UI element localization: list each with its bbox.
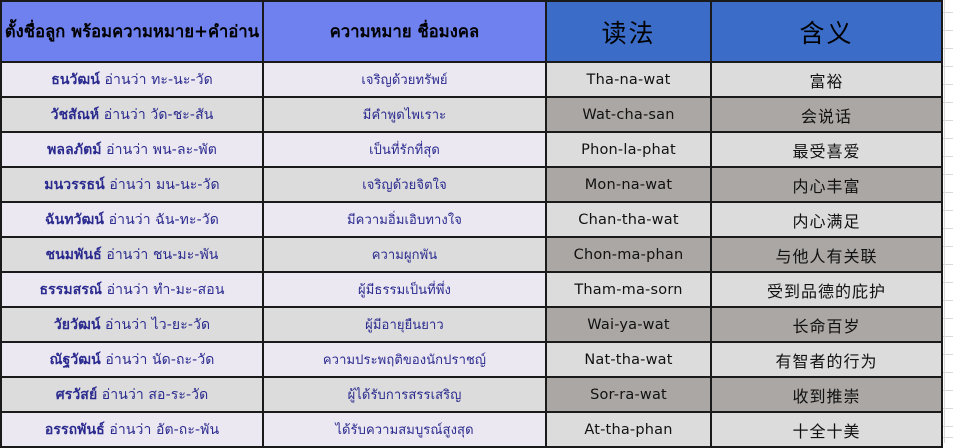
- table-row: มนวรรธน์ อ่านว่า มน-นะ-วัดเจริญด้วยจิตใจ…: [1, 167, 942, 202]
- thai-name-text: ชนมพันธ์: [46, 247, 102, 263]
- cell-thai-meaning[interactable]: ได้รับความสมบูรณ์สูงสุด: [263, 412, 546, 447]
- cell-latin-reading[interactable]: Mon-na-wat: [546, 167, 711, 202]
- cell-thai-name[interactable]: วัชสัณห์ อ่านว่า วัด-ชะ-สัน: [1, 97, 263, 132]
- table-row: ศรวัสย์ อ่านว่า สอ-ระ-วัดผู้ได้รับการสรร…: [1, 377, 942, 412]
- thai-name-meaning-table: ตั้งชื่อลูก พร้อมความหมาย+คำอ่าน ความหมา…: [0, 0, 943, 448]
- thai-reading-text: อ่านว่า วัด-ชะ-สัน: [99, 107, 213, 123]
- thai-name-text: ธนวัฒน์: [51, 72, 100, 88]
- thai-reading-text: อ่านว่า พน-ละ-พัต: [102, 142, 217, 158]
- cell-chinese-meaning[interactable]: 十全十美: [711, 412, 942, 447]
- cell-thai-meaning[interactable]: มีความอิ่มเอิบทางใจ: [263, 202, 546, 237]
- cell-thai-name[interactable]: อรรถพันธ์ อ่านว่า อัต-ถะ-พัน: [1, 412, 263, 447]
- cell-chinese-meaning[interactable]: 内心满足: [711, 202, 942, 237]
- thai-name-text: ณัฐวัฒน์: [50, 352, 101, 368]
- cell-thai-name[interactable]: พลลภัตม์ อ่านว่า พน-ละ-พัต: [1, 132, 263, 167]
- thai-name-text: พลลภัตม์: [47, 142, 102, 158]
- cell-thai-name[interactable]: วัยวัฒน์ อ่านว่า ไว-ยะ-วัด: [1, 307, 263, 342]
- cell-thai-name[interactable]: ธรรมสรณ์ อ่านว่า ทำ-มะ-สอน: [1, 272, 263, 307]
- thai-reading-text: อ่านว่า สอ-ระ-วัด: [97, 387, 208, 403]
- thai-name-text: อรรถพันธ์: [45, 422, 105, 438]
- cell-thai-meaning[interactable]: ความประพฤติของนักปราชญ์: [263, 342, 546, 377]
- thai-reading-text: อ่านว่า ฉัน-ทะ-วัด: [104, 212, 219, 228]
- cell-chinese-meaning[interactable]: 内心丰富: [711, 167, 942, 202]
- cell-chinese-meaning[interactable]: 长命百岁: [711, 307, 942, 342]
- header-row: ตั้งชื่อลูก พร้อมความหมาย+คำอ่าน ความหมา…: [1, 1, 942, 62]
- cell-thai-name[interactable]: ณัฐวัฒน์ อ่านว่า นัด-ถะ-วัด: [1, 342, 263, 377]
- thai-reading-text: อ่านว่า ชน-มะ-พัน: [102, 247, 219, 263]
- thai-reading-text: อ่านว่า อัต-ถะ-พัน: [105, 422, 219, 438]
- cell-thai-meaning[interactable]: เป็นที่รักที่สุด: [263, 132, 546, 167]
- thai-name-text: วัยวัฒน์: [54, 317, 101, 333]
- cell-thai-meaning[interactable]: ความผูกพัน: [263, 237, 546, 272]
- table-body: ธนวัฒน์ อ่านว่า ทะ-นะ-วัดเจริญด้วยทรัพย์…: [1, 62, 942, 447]
- spreadsheet-canvas: ตั้งชื่อลูก พร้อมความหมาย+คำอ่าน ความหมา…: [0, 0, 953, 443]
- thai-name-text: ฉันทวัฒน์: [45, 212, 104, 228]
- cell-thai-name[interactable]: ธนวัฒน์ อ่านว่า ทะ-นะ-วัด: [1, 62, 263, 97]
- cell-latin-reading[interactable]: Wai-ya-wat: [546, 307, 711, 342]
- thai-name-text: วัชสัณห์: [51, 107, 100, 123]
- cell-latin-reading[interactable]: Sor-ra-wat: [546, 377, 711, 412]
- column-header-thai-name[interactable]: ตั้งชื่อลูก พร้อมความหมาย+คำอ่าน: [1, 1, 263, 62]
- thai-name-text: มนวรรธน์: [44, 177, 105, 193]
- cell-latin-reading[interactable]: Chan-tha-wat: [546, 202, 711, 237]
- column-header-chinese-reading[interactable]: 读法: [546, 1, 711, 62]
- cell-thai-name[interactable]: ฉันทวัฒน์ อ่านว่า ฉัน-ทะ-วัด: [1, 202, 263, 237]
- table-row: ฉันทวัฒน์ อ่านว่า ฉัน-ทะ-วัดมีความอิ่มเอ…: [1, 202, 942, 237]
- thai-reading-text: อ่านว่า ทำ-มะ-สอน: [102, 282, 224, 298]
- table-row: พลลภัตม์ อ่านว่า พน-ละ-พัตเป็นที่รักที่ส…: [1, 132, 942, 167]
- cell-thai-meaning[interactable]: ผู้มีธรรมเป็นที่พึ่ง: [263, 272, 546, 307]
- table-row: ธนวัฒน์ อ่านว่า ทะ-นะ-วัดเจริญด้วยทรัพย์…: [1, 62, 942, 97]
- cell-latin-reading[interactable]: Tha-na-wat: [546, 62, 711, 97]
- cell-chinese-meaning[interactable]: 最受喜爱: [711, 132, 942, 167]
- cell-thai-meaning[interactable]: เจริญด้วยจิตใจ: [263, 167, 546, 202]
- cell-latin-reading[interactable]: Chon-ma-phan: [546, 237, 711, 272]
- cell-thai-meaning[interactable]: เจริญด้วยทรัพย์: [263, 62, 546, 97]
- cell-chinese-meaning[interactable]: 会说话: [711, 97, 942, 132]
- table-row: วัยวัฒน์ อ่านว่า ไว-ยะ-วัดผู้มีอายุยืนยา…: [1, 307, 942, 342]
- cell-chinese-meaning[interactable]: 收到推崇: [711, 377, 942, 412]
- thai-reading-text: อ่านว่า นัด-ถะ-วัด: [101, 352, 215, 368]
- thai-name-text: ศรวัสย์: [56, 387, 98, 403]
- cell-chinese-meaning[interactable]: 有智者的行为: [711, 342, 942, 377]
- cell-latin-reading[interactable]: Nat-tha-wat: [546, 342, 711, 377]
- cell-latin-reading[interactable]: Tham-ma-sorn: [546, 272, 711, 307]
- table-row: ชนมพันธ์ อ่านว่า ชน-มะ-พันความผูกพันChon…: [1, 237, 942, 272]
- cell-thai-name[interactable]: ศรวัสย์ อ่านว่า สอ-ระ-วัด: [1, 377, 263, 412]
- thai-name-text: ธรรมสรณ์: [39, 282, 102, 298]
- column-header-thai-meaning[interactable]: ความหมาย ชื่อมงคล: [263, 1, 546, 62]
- cell-latin-reading[interactable]: At-tha-phan: [546, 412, 711, 447]
- thai-reading-text: อ่านว่า มน-นะ-วัด: [105, 177, 220, 193]
- table-header: ตั้งชื่อลูก พร้อมความหมาย+คำอ่าน ความหมา…: [1, 1, 942, 62]
- table-row: วัชสัณห์ อ่านว่า วัด-ชะ-สันมีคำพูดไพเราะ…: [1, 97, 942, 132]
- cell-thai-name[interactable]: ชนมพันธ์ อ่านว่า ชน-มะ-พัน: [1, 237, 263, 272]
- thai-reading-text: อ่านว่า ไว-ยะ-วัด: [101, 317, 211, 333]
- cell-chinese-meaning[interactable]: 与他人有关联: [711, 237, 942, 272]
- table-row: ธรรมสรณ์ อ่านว่า ทำ-มะ-สอนผู้มีธรรมเป็นท…: [1, 272, 942, 307]
- thai-reading-text: อ่านว่า ทะ-นะ-วัด: [100, 72, 213, 88]
- cell-chinese-meaning[interactable]: 富裕: [711, 62, 942, 97]
- table-row: อรรถพันธ์ อ่านว่า อัต-ถะ-พันได้รับความสม…: [1, 412, 942, 447]
- cell-thai-meaning[interactable]: ผู้ได้รับการสรรเสริญ: [263, 377, 546, 412]
- table-row: ณัฐวัฒน์ อ่านว่า นัด-ถะ-วัดความประพฤติขอ…: [1, 342, 942, 377]
- cell-thai-meaning[interactable]: ผู้มีอายุยืนยาว: [263, 307, 546, 342]
- cell-thai-meaning[interactable]: มีคำพูดไพเราะ: [263, 97, 546, 132]
- cell-latin-reading[interactable]: Phon-la-phat: [546, 132, 711, 167]
- cell-latin-reading[interactable]: Wat-cha-san: [546, 97, 711, 132]
- column-header-chinese-meaning[interactable]: 含义: [711, 1, 942, 62]
- cell-chinese-meaning[interactable]: 受到品德的庇护: [711, 272, 942, 307]
- cell-thai-name[interactable]: มนวรรธน์ อ่านว่า มน-นะ-วัด: [1, 167, 263, 202]
